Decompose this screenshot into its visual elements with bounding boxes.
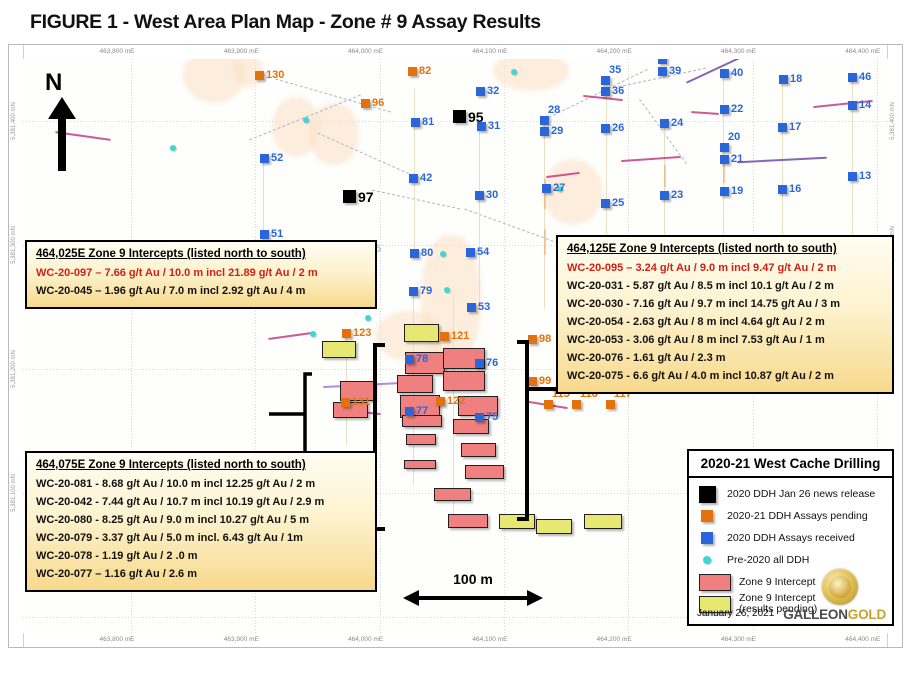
axis-bottom: 463,800 mE463,900 mE464,000 mE464,100 mE… (9, 632, 902, 647)
legend-panel: 2020-21 West Cache Drilling 2020 DDH Jan… (687, 449, 894, 626)
vein-line (691, 111, 719, 115)
collar-square-icon (405, 355, 414, 364)
collar-label: 14 (859, 99, 871, 111)
collar-label: 24 (671, 117, 683, 129)
intercept-box-464075E: 464,075E Zone 9 Intercepts (listed north… (25, 451, 377, 592)
intercept-box-464025E-title: 464,025E Zone 9 Intercepts (listed north… (36, 248, 366, 260)
axis-tick-northing: 5,381,400 mN (11, 102, 17, 140)
collar-square-icon (475, 359, 484, 368)
axis-tick-northing: 5,381,200 mN (11, 350, 17, 388)
collar-square-icon (778, 185, 787, 194)
collar-label: 32 (487, 85, 499, 97)
collar-square-icon (405, 407, 414, 416)
brand-wordmark: GALLEONGOLD (783, 607, 886, 622)
collar-label: 31 (488, 120, 500, 132)
zone9-intercept-red[interactable] (465, 465, 504, 479)
intercept-box-464075E-rows: WC-20-081 - 8.68 g/t Au / 10.0 m incl 12… (36, 475, 366, 583)
collar-label: 35 (609, 64, 621, 76)
bracket-464025 (299, 374, 312, 455)
axis-tick-easting: 464,000 mE (348, 636, 383, 643)
axis-tick-easting: 464,400 mE (845, 636, 880, 643)
collar-label: 36 (612, 85, 624, 97)
axis-tick-easting: 464,300 mE (721, 48, 756, 55)
figure-page: FIGURE 1 - West Area Plan Map - Zone # 9… (0, 0, 911, 683)
collar-square-icon (260, 154, 269, 163)
intercept-box-464125E: 464,125E Zone 9 Intercepts (listed north… (556, 235, 894, 394)
pre2020-ddh-dot (365, 315, 371, 321)
legend-item-label: 2020-21 DDH Assays pending (727, 510, 868, 522)
collar-label: 122 (447, 395, 465, 407)
collar-square-icon (255, 71, 264, 80)
collar-label: 42 (420, 172, 432, 184)
collar-label: 77 (416, 405, 428, 417)
collar-square-icon (528, 335, 537, 344)
contact-line (639, 99, 687, 164)
collar-label: 17 (789, 121, 801, 133)
collar-label: 79 (420, 285, 432, 297)
zone9-intercept-yellow[interactable] (404, 324, 439, 342)
collar-square-icon (601, 124, 610, 133)
axis-tick-easting: 463,800 mE (99, 636, 134, 643)
pre2020-ddh-dot (444, 287, 450, 293)
zone9-intercept-yellow[interactable] (322, 341, 356, 358)
collar-square-icon (601, 76, 610, 85)
zone9-intercept-yellow[interactable] (584, 514, 622, 529)
collar-label: 75 (486, 411, 498, 423)
collar-label: 121 (451, 330, 469, 342)
intercept-row: WC-20-030 - 7.16 g/t Au / 9.7 m incl 14.… (567, 295, 883, 313)
intercept-box-464025E-rows: WC-20-097 – 7.66 g/t Au / 10.0 m incl 21… (36, 264, 366, 300)
collar-square-icon (341, 398, 350, 407)
gridline-vertical (504, 59, 505, 633)
collar-label: 123 (353, 327, 371, 339)
collar-square-icon (361, 99, 370, 108)
axis-tick-easting: 463,800 mE (99, 48, 134, 55)
intercept-row: WC-20-054 - 2.63 g/t Au / 8 m incl 4.64 … (567, 313, 883, 331)
zone9-intercept-red[interactable] (461, 443, 496, 457)
intercept-row: WC-20-042 - 7.44 g/t Au / 10.7 m incl 10… (36, 493, 366, 511)
intercept-box-464025E: 464,025E Zone 9 Intercepts (listed north… (25, 240, 377, 309)
axis-tick-northing: 5,381,300 mN (11, 226, 17, 264)
brand-logo: GALLEONGOLD (783, 607, 886, 622)
collar-label: 99 (539, 375, 551, 387)
zone9-intercept-red[interactable] (397, 375, 433, 393)
legend-item-label: 2020 DDH Jan 26 news release (727, 488, 875, 500)
collar-label: 98 (539, 333, 551, 345)
legend-item-label: Zone 9 Intercept (739, 576, 815, 588)
brand-word-galleon: GALLEON (783, 607, 848, 622)
collar-label: 53 (478, 301, 490, 313)
intercept-row: WC-20-097 – 7.66 g/t Au / 10.0 m incl 21… (36, 264, 366, 282)
pre2020-ddh-dot (440, 251, 446, 257)
contact-line (372, 190, 460, 210)
collar-label: 25 (612, 197, 624, 209)
intercept-row: WC-20-079 - 3.37 g/t Au / 5.0 m incl. 6.… (36, 529, 366, 547)
collar-label: 81 (422, 116, 434, 128)
collar-square-icon (343, 190, 356, 203)
scale-bar-arrow-icon (403, 587, 543, 609)
collar-label: 29 (551, 125, 563, 137)
collar-square-icon (540, 127, 549, 136)
axis-tick-easting: 464,400 mE (845, 48, 880, 55)
axis-tick-easting: 463,900 mE (224, 48, 259, 55)
collar-label: 18 (790, 73, 802, 85)
collar-square-icon (453, 110, 466, 123)
collar-label: 131 (352, 396, 370, 408)
brand-word-gold: GOLD (848, 607, 886, 622)
collar-square-icon (540, 116, 549, 125)
collar-square-icon (409, 174, 418, 183)
collar-square-icon (660, 119, 669, 128)
drill-trace-pending (544, 229, 546, 255)
north-arrow-label: N (45, 71, 79, 95)
collar-square-icon (476, 87, 485, 96)
collar-square-icon (542, 184, 551, 193)
legend-item-label: 2020 DDH Assays received (727, 532, 855, 544)
vein-line (268, 332, 312, 340)
collar-square-icon (601, 87, 610, 96)
collar-label: 39 (669, 65, 681, 77)
legend-item: Zone 9 Intercept (689, 571, 892, 593)
legend-item-label: Pre-2020 all DDH (727, 554, 809, 566)
intercept-row: WC-20-078 - 1.19 g/t Au / 2 .0 m (36, 547, 366, 565)
collar-square-icon (544, 400, 553, 409)
intercept-box-464075E-title: 464,075E Zone 9 Intercepts (listed north… (36, 459, 366, 471)
collar-square-icon (848, 101, 857, 110)
collar-square-icon (410, 249, 419, 258)
north-arrow: N (45, 71, 79, 178)
collar-square-icon (720, 187, 729, 196)
page-title: FIGURE 1 - West Area Plan Map - Zone # 9… (30, 11, 541, 34)
pre2020-ddh-dot (303, 117, 309, 123)
legend-swatch-sq-blue (701, 532, 713, 544)
zone9-intercept-red[interactable] (434, 488, 471, 501)
legend-date: January 26, 2021 (697, 608, 774, 619)
collar-square-icon (440, 332, 449, 341)
collar-square-icon (260, 230, 269, 239)
collar-square-icon (475, 191, 484, 200)
zone9-intercept-yellow[interactable] (536, 519, 572, 534)
axis-tick-northing: 5,381,100 mN (11, 474, 17, 512)
collar-square-icon (778, 123, 787, 132)
collar-label: 13 (859, 170, 871, 182)
collar-label: 28 (548, 104, 560, 116)
axis-left: 5,381,400 mN5,381,300 mN5,381,200 mN5,38… (9, 45, 24, 647)
collar-label: 51 (271, 228, 283, 240)
legend-swatch-dot-cyan (703, 556, 711, 564)
collar-square-icon (720, 155, 729, 164)
collar-square-icon (601, 199, 610, 208)
legend-item: Pre-2020 all DDH (689, 549, 892, 571)
collar-label: 16 (789, 183, 801, 195)
drill-trace (479, 125, 480, 305)
drill-trace-pending (664, 165, 666, 187)
galleon-coin-icon (822, 569, 858, 605)
intercept-row: WC-20-077 – 1.16 g/t Au / 2.6 m (36, 565, 366, 583)
collar-label: 21 (731, 153, 743, 165)
pre2020-ddh-dot (310, 331, 316, 337)
collar-square-icon (658, 59, 667, 64)
collar-label: 40 (731, 67, 743, 79)
legend-items: 2020 DDH Jan 26 news release2020-21 DDH … (689, 478, 892, 615)
collar-square-icon (467, 303, 476, 312)
collar-square-icon (572, 400, 581, 409)
axis-tick-easting: 464,200 mE (597, 48, 632, 55)
pre2020-ddh-dot (511, 69, 517, 75)
intercept-row: WC-20-031 - 5.87 g/t Au / 8.5 m incl 10.… (567, 277, 883, 295)
collar-label: 130 (266, 69, 284, 81)
intercept-row: WC-20-053 - 3.06 g/t Au / 8 m incl 7.53 … (567, 331, 883, 349)
collar-square-icon (436, 397, 445, 406)
collar-label: 20 (728, 131, 740, 143)
zone9-intercept-red[interactable] (443, 371, 485, 391)
geology-unit (543, 159, 603, 225)
zone9-intercept-red[interactable] (448, 514, 488, 528)
collar-label: 96 (372, 97, 384, 109)
collar-square-icon (720, 105, 729, 114)
legend-swatch-rect-red (699, 574, 731, 591)
intercept-box-464125E-rows: WC-20-095 – 3.24 g/t Au / 9.0 m incl 9.4… (567, 259, 883, 385)
legend-item: 2020 DDH Assays received (689, 527, 892, 549)
axis-tick-easting: 464,100 mE (472, 48, 507, 55)
collar-label: 78 (416, 353, 428, 365)
vein-line (621, 156, 681, 162)
collar-square-icon (606, 400, 615, 409)
axis-tick-easting: 464,000 mE (348, 48, 383, 55)
legend-swatch-sq-orange (701, 510, 713, 522)
collar-label: 82 (419, 65, 431, 77)
collar-label: 30 (486, 189, 498, 201)
axis-top: 463,800 mE463,900 mE464,000 mE464,100 mE… (9, 45, 902, 60)
collar-square-icon (475, 413, 484, 422)
intercept-box-464125E-title: 464,125E Zone 9 Intercepts (listed north… (567, 243, 883, 255)
zone9-intercept-red[interactable] (406, 434, 436, 445)
collar-square-icon (848, 73, 857, 82)
intercept-row: WC-20-045 – 1.96 g/t Au / 7.0 m incl 2.9… (36, 282, 366, 300)
drill-trace (544, 119, 545, 309)
collar-square-icon (660, 191, 669, 200)
collar-label: 80 (421, 247, 433, 259)
collar-square-icon (408, 67, 417, 76)
collar-square-icon (720, 143, 729, 152)
axis-tick-easting: 463,900 mE (224, 636, 259, 643)
intercept-row: WC-20-095 – 3.24 g/t Au / 9.0 m incl 9.4… (567, 259, 883, 277)
collar-square-icon (658, 67, 667, 76)
intercept-row: WC-20-081 - 8.68 g/t Au / 10.0 m incl 12… (36, 475, 366, 493)
collar-square-icon (342, 329, 351, 338)
collar-label: 19 (731, 185, 743, 197)
scale-bar-label: 100 m (403, 571, 543, 587)
collar-label: 23 (671, 189, 683, 201)
drill-trace (606, 89, 607, 249)
collar-square-icon (466, 248, 475, 257)
legend-title: 2020-21 West Cache Drilling (689, 451, 892, 478)
collar-square-icon (411, 118, 420, 127)
collar-square-icon (720, 69, 729, 78)
map-figure-frame: 463,800 mE463,900 mE464,000 mE464,100 mE… (8, 44, 903, 648)
intercept-row: WC-20-080 - 8.25 g/t Au / 9.0 m incl 10.… (36, 511, 366, 529)
collar-square-icon (409, 287, 418, 296)
collar-label: 97 (358, 189, 374, 205)
collar-square-icon (528, 377, 537, 386)
zone9-intercept-red[interactable] (404, 460, 436, 469)
collar-square-icon (848, 172, 857, 181)
collar-square-icon (477, 122, 486, 131)
collar-square-icon (779, 75, 788, 84)
intercept-row: WC-20-075 - 6.6 g/t Au / 4.0 m incl 10.8… (567, 367, 883, 385)
legend-swatch-sq-black (699, 486, 716, 503)
north-arrow-icon (45, 95, 79, 173)
collar-label: 22 (731, 103, 743, 115)
intercept-row: WC-20-076 - 1.61 g/t Au / 2.3 m (567, 349, 883, 367)
legend-item: 2020-21 DDH Assays pending (689, 505, 892, 527)
collar-label: 26 (612, 122, 624, 134)
scale-bar: 100 m (403, 571, 543, 614)
collar-label: 52 (271, 152, 283, 164)
collar-label: 27 (553, 182, 565, 194)
axis-tick-easting: 464,100 mE (472, 636, 507, 643)
axis-tick-northing: 5,381,400 mN (890, 102, 896, 140)
legend-item: 2020 DDH Jan 26 news release (689, 483, 892, 505)
collar-label: 54 (477, 246, 489, 258)
pre2020-ddh-dot (170, 145, 176, 151)
collar-label: 46 (859, 71, 871, 83)
axis-tick-easting: 464,200 mE (597, 636, 632, 643)
axis-tick-easting: 464,300 mE (721, 636, 756, 643)
collar-label: 76 (486, 357, 498, 369)
zone9-intercept-yellow[interactable] (499, 514, 535, 529)
